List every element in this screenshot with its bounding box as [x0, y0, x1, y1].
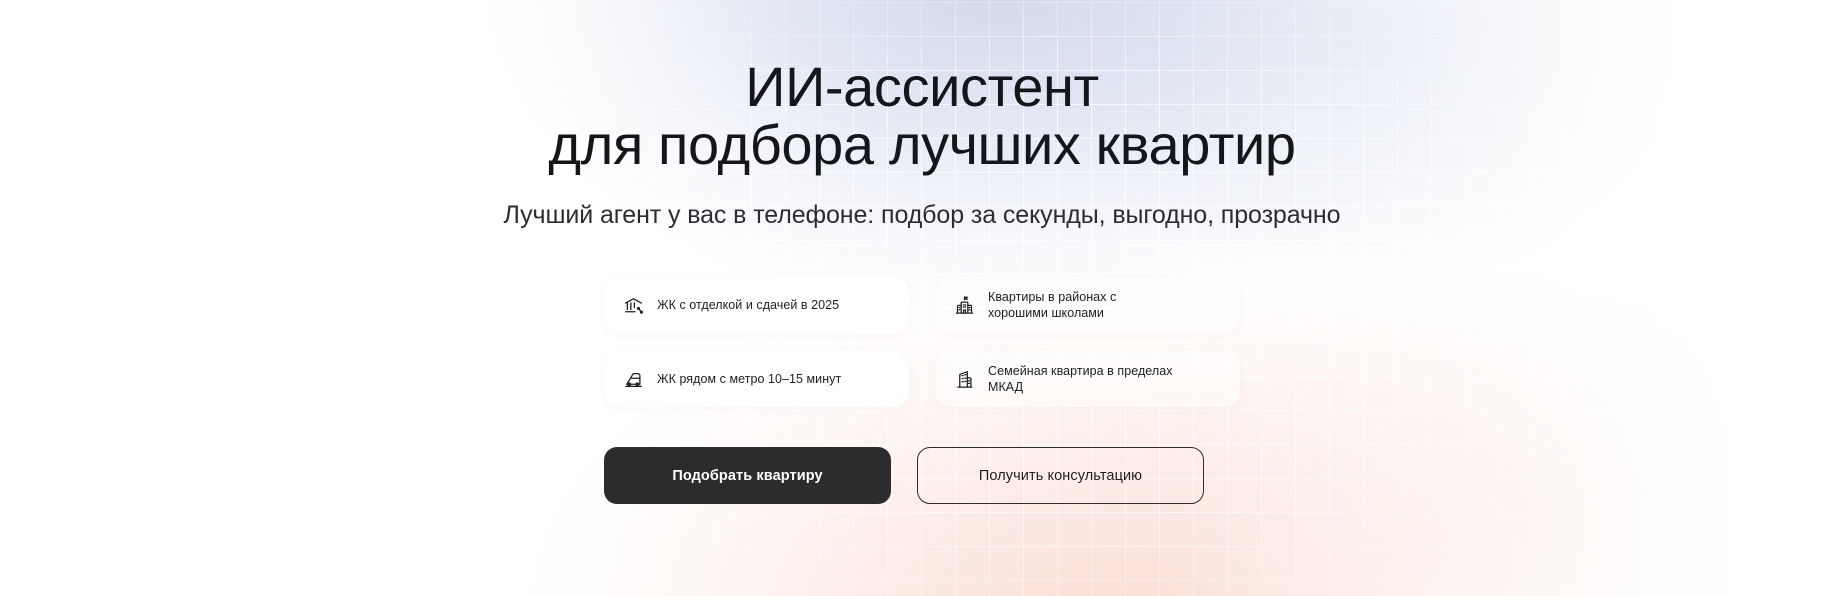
suggestion-chip-grid: ЖК с отделкой и сдачей в 2025: [604, 277, 1240, 407]
apartment-building-icon: [953, 368, 975, 390]
suggestion-chip-finishing-2025[interactable]: ЖК с отделкой и сдачей в 2025: [604, 277, 909, 333]
suggestion-chip-family-mkad[interactable]: Семейная квартира в пределах МКАД: [935, 351, 1240, 407]
metro-train-icon: [622, 368, 644, 390]
suggestion-chip-good-schools[interactable]: Квартиры в районах с хорошими школами: [935, 277, 1240, 333]
school-building-icon: [953, 294, 975, 316]
hero-section: ИИ-ассистент для подбора лучших квартир …: [0, 0, 1844, 596]
page-subtitle: Лучший агент у вас в телефоне: подбор за…: [504, 201, 1341, 230]
suggestion-chip-near-metro[interactable]: ЖК рядом с метро 10–15 минут: [604, 351, 909, 407]
suggestion-chip-label: ЖК рядом с метро 10–15 минут: [657, 371, 841, 388]
page-title: ИИ-ассистент для подбора лучших квартир: [548, 58, 1295, 174]
get-consultation-button[interactable]: Получить консультацию: [917, 447, 1204, 504]
suggestion-chip-label: Квартиры в районах с хорошими школами: [988, 289, 1116, 322]
suggestion-chip-label: Семейная квартира в пределах МКАД: [988, 363, 1173, 396]
hero-content: ИИ-ассистент для подбора лучших квартир …: [0, 0, 1844, 596]
select-apartment-button[interactable]: Подобрать квартиру: [604, 447, 891, 504]
suggestion-chip-label: ЖК с отделкой и сдачей в 2025: [657, 297, 839, 314]
hero-actions: Подобрать квартиру Получить консультацию: [604, 447, 1240, 504]
bank-percent-icon: [622, 294, 644, 316]
